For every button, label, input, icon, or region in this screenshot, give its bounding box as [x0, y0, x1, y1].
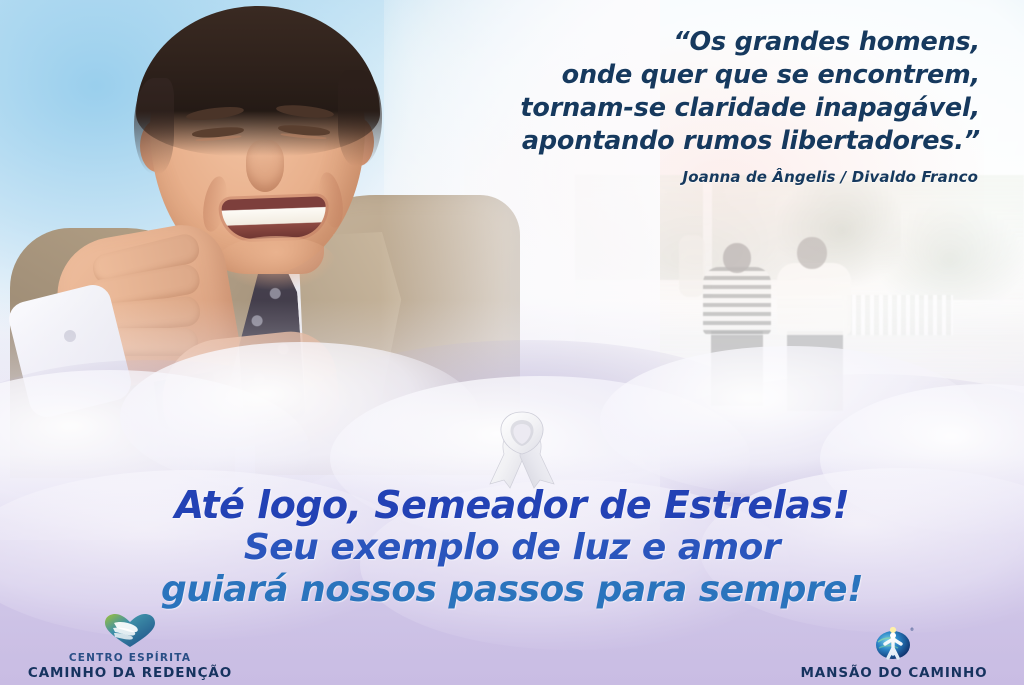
headline-line-1: Até logo, Semeador de Estrelas!	[0, 486, 1024, 524]
quote-line-2: onde quer que se encontrem,	[420, 59, 980, 92]
logo-left-line-2: CAMINHO DA REDENÇÃO	[10, 665, 250, 681]
globe-figure-flame-icon: ®	[870, 620, 918, 662]
logo-centro-espirita-caminho-da-redencao: CENTRO ESPÍRITA CAMINHO DA REDENÇÃO	[10, 613, 250, 681]
memorial-poster: “Os grandes homens, onde quer que se enc…	[0, 0, 1024, 685]
quote-line-3: tornam-se claridade inapagável,	[420, 92, 980, 125]
heart-hands-icon	[102, 613, 158, 649]
quote-text: “Os grandes homens, onde quer que se enc…	[420, 26, 980, 158]
svg-text:®: ®	[910, 627, 914, 632]
headline-line-3: guiará nossos passos para sempre!	[0, 572, 1024, 608]
quote-attribution: Joanna de Ângelis / Divaldo Franco	[418, 168, 978, 186]
quote-line-4: apontando rumos libertadores.”	[420, 125, 980, 158]
logo-left-line-1: CENTRO ESPÍRITA	[10, 652, 250, 665]
logo-right-line-1: MANSÃO DO CAMINHO	[774, 665, 1014, 681]
logo-mansao-do-caminho: ® MANSÃO DO CAMINHO	[774, 620, 1014, 681]
mourning-ribbon-icon	[478, 406, 566, 490]
headline-block: Até logo, Semeador de Estrelas! Seu exem…	[0, 486, 1024, 608]
headline-line-2: Seu exemplo de luz e amor	[0, 530, 1024, 566]
quote-line-1: “Os grandes homens,	[420, 26, 980, 59]
